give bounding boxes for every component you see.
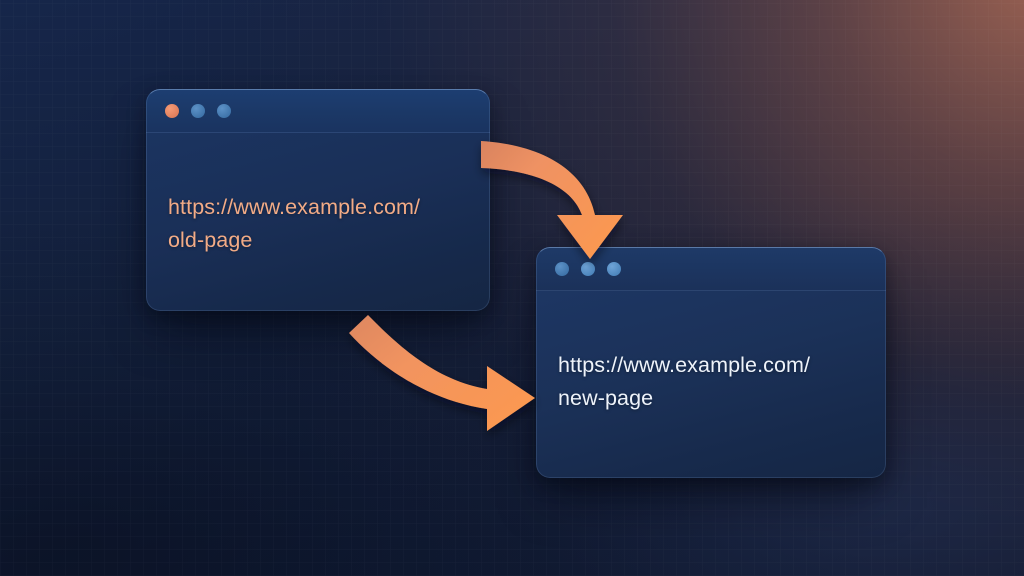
browser-window-new-page[interactable]: https://www.example.com/ new-page [536, 247, 886, 478]
illustration-canvas: https://www.example.com/ old-page https:… [0, 0, 1024, 576]
window-body-new: https://www.example.com/ new-page [536, 291, 886, 478]
window-body-old: https://www.example.com/ old-page [146, 133, 490, 311]
titlebar-old [146, 89, 490, 133]
titlebar-new [536, 247, 886, 291]
browser-window-old-page[interactable]: https://www.example.com/ old-page [146, 89, 490, 311]
maximize-dot-icon[interactable] [217, 104, 231, 118]
maximize-dot-icon[interactable] [607, 262, 621, 276]
minimize-dot-icon[interactable] [581, 262, 595, 276]
close-dot-icon[interactable] [555, 262, 569, 276]
close-dot-icon[interactable] [165, 104, 179, 118]
url-text-new-page: https://www.example.com/ new-page [558, 349, 848, 415]
minimize-dot-icon[interactable] [191, 104, 205, 118]
url-text-old-page: https://www.example.com/ old-page [168, 191, 458, 257]
